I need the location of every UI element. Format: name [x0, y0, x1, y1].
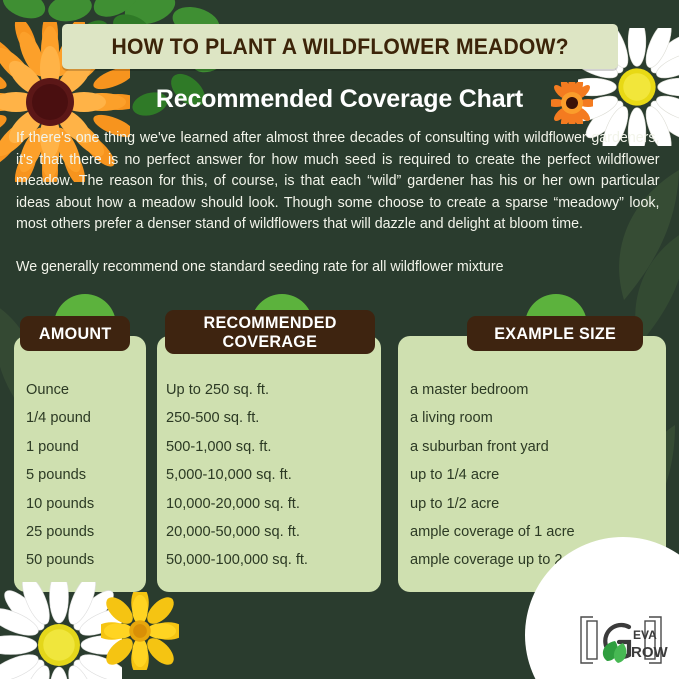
- subtitle-row: Recommended Coverage Chart: [0, 79, 679, 119]
- table-row: 1 pound: [26, 433, 146, 461]
- column-1-rows: Ounce 1/4 pound 1 pound 5 pounds 10 poun…: [26, 376, 146, 575]
- table-row: up to 1/2 acre: [410, 490, 666, 518]
- table-row: 5 pounds: [26, 461, 146, 489]
- column-3-header-chip[interactable]: EXAMPLE SIZE: [467, 316, 643, 351]
- table-row: 50 pounds: [26, 546, 146, 574]
- table-row: 20,000-50,000 sq. ft.: [166, 518, 381, 546]
- table-row: 500-1,000 sq. ft.: [166, 433, 381, 461]
- intro-paragraph-1: If there's one thing we've learned after…: [16, 128, 660, 236]
- table-row: Up to 250 sq. ft.: [166, 376, 381, 404]
- table-row: a living room: [410, 404, 666, 432]
- intro-text-block: If there's one thing we've learned after…: [16, 128, 660, 278]
- table-row: 250-500 sq. ft.: [166, 404, 381, 432]
- table-row: 1/4 pound: [26, 404, 146, 432]
- column-2-header-chip[interactable]: RECOMMENDED COVERAGE: [165, 310, 375, 354]
- infographic-canvas: HOW TO PLANT A WILDFLOWER MEADOW? Recomm…: [0, 0, 679, 679]
- table-row: a master bedroom: [410, 376, 666, 404]
- column-1-header-label: AMOUNT: [39, 324, 112, 343]
- column-2-header-label-line2: COVERAGE: [223, 332, 318, 351]
- column-2-rows: Up to 250 sq. ft. 250-500 sq. ft. 500-1,…: [166, 376, 381, 575]
- table-row: 50,000-100,000 sq. ft.: [166, 546, 381, 574]
- table-row: 5,000-10,000 sq. ft.: [166, 461, 381, 489]
- table-row: Ounce: [26, 376, 146, 404]
- table-row: 25 pounds: [26, 518, 146, 546]
- yellow-coreopsis-flower-bottomleft: [101, 592, 179, 670]
- page-title: HOW TO PLANT A WILDFLOWER MEADOW?: [111, 34, 568, 60]
- page-subtitle: Recommended Coverage Chart: [156, 85, 523, 114]
- main-title-banner: HOW TO PLANT A WILDFLOWER MEADOW?: [62, 24, 618, 69]
- table-row: 10,000-20,000 sq. ft.: [166, 490, 381, 518]
- svg-text:EVA: EVA: [633, 628, 657, 642]
- eva-grow-logo[interactable]: EVA ROW: [573, 609, 669, 671]
- svg-text:ROW: ROW: [631, 644, 669, 661]
- intro-paragraph-2: We generally recommend one standard seed…: [16, 257, 660, 279]
- table-row: a suburban front yard: [410, 433, 666, 461]
- table-row: up to 1/4 acre: [410, 461, 666, 489]
- table-row: 10 pounds: [26, 490, 146, 518]
- column-2-header-label-line1: RECOMMENDED: [203, 313, 336, 332]
- white-daisy-flower-bottomleft: [0, 582, 122, 679]
- column-3-header-label: EXAMPLE SIZE: [494, 324, 616, 343]
- column-1-header-chip[interactable]: AMOUNT: [20, 316, 130, 351]
